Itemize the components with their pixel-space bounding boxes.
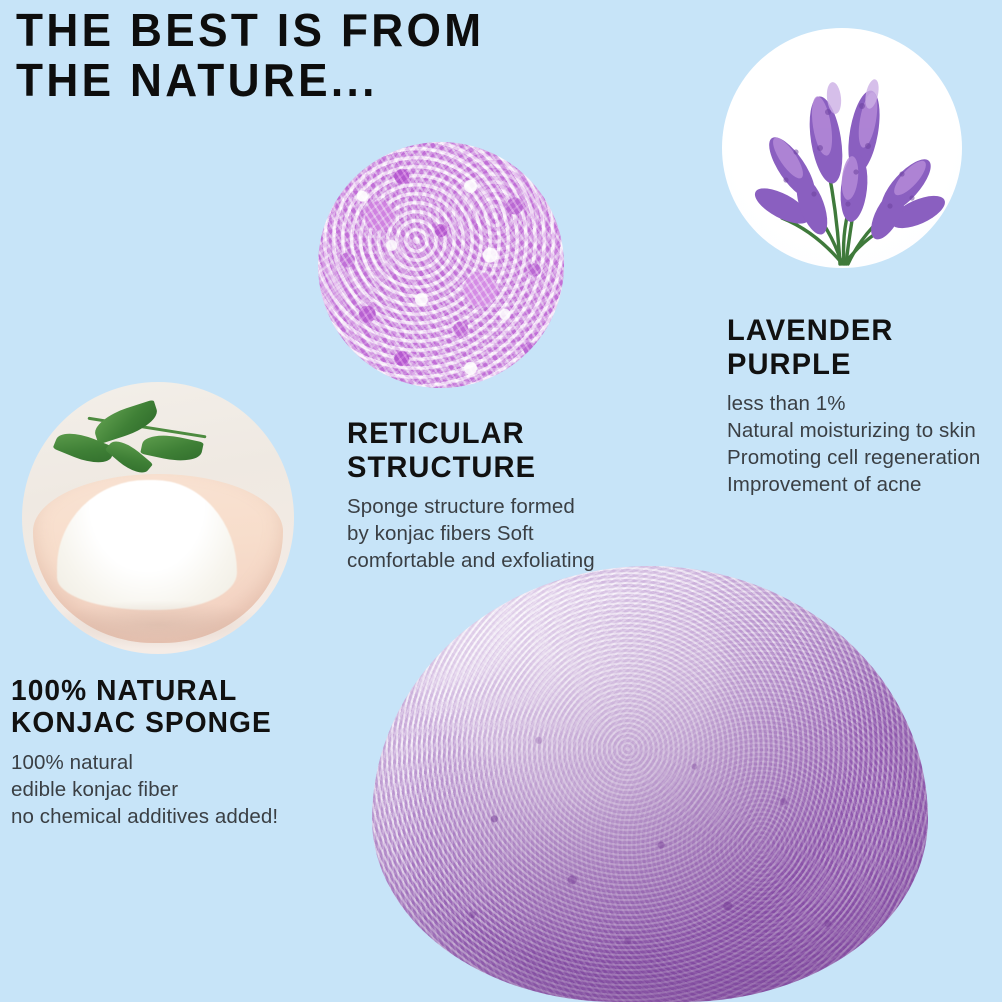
feature-konjac-title: 100% NATURAL KONJAC SPONGE <box>11 675 331 740</box>
sponge-highlight <box>416 583 738 775</box>
reticular-sponge-photo <box>318 142 564 388</box>
sponge-grain-overlay <box>318 142 564 388</box>
konjac-powder-photo <box>22 382 294 654</box>
feature-lavender-title: LAVENDER PURPLE <box>727 314 1002 381</box>
lavender-bouquet-icon <box>722 28 962 268</box>
feature-reticular: RETICULAR STRUCTURE Sponge structure for… <box>347 417 647 574</box>
product-infographic-poster: THE BEST IS FROM THE NATURE... <box>0 0 1002 1002</box>
page-title: THE BEST IS FROM THE NATURE... <box>16 6 611 105</box>
feature-lavender: LAVENDER PURPLE less than 1% Natural moi… <box>727 314 1002 498</box>
lavender-flowers-photo <box>722 28 962 268</box>
feature-lavender-body: less than 1% Natural moisturizing to ski… <box>727 390 1002 498</box>
feature-reticular-title: RETICULAR STRUCTURE <box>347 417 638 484</box>
feature-konjac-body: 100% natural edible konjac fiber no chem… <box>11 749 341 830</box>
feature-konjac: 100% NATURAL KONJAC SPONGE 100% natural … <box>11 675 341 830</box>
feature-reticular-body: Sponge structure formed by konjac fibers… <box>347 493 647 574</box>
hero-konjac-sponge-photo <box>372 566 928 1002</box>
bowl-shadow <box>44 600 272 649</box>
